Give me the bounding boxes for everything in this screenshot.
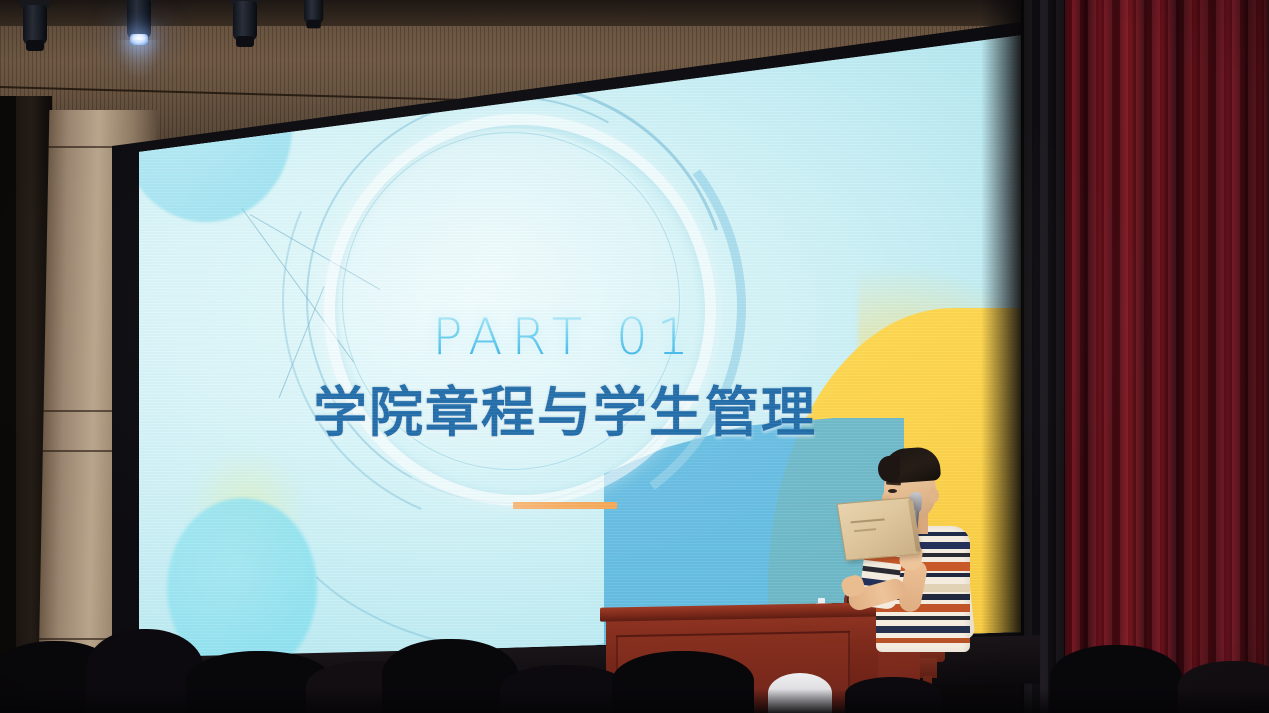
slide-title: 学院章程与学生管理 bbox=[92, 368, 1038, 447]
presentation-scene: PART 01 学院章程与学生管理 bbox=[0, 0, 1269, 713]
presenter-booklet bbox=[837, 497, 920, 561]
stage-right-shadow bbox=[981, 0, 1021, 713]
ceiling-band bbox=[0, 0, 1040, 26]
stage-curtain-right bbox=[1021, 0, 1269, 713]
presenter-hair-front bbox=[878, 456, 900, 482]
presenter-ear bbox=[928, 488, 939, 503]
slide-section-label: PART 01 bbox=[92, 308, 1038, 366]
wall-left-edge bbox=[0, 96, 16, 676]
presenter bbox=[836, 448, 976, 713]
slide-accent-underline bbox=[513, 502, 617, 509]
foreground-shadow bbox=[0, 689, 1269, 713]
presenter-eye bbox=[888, 489, 897, 493]
